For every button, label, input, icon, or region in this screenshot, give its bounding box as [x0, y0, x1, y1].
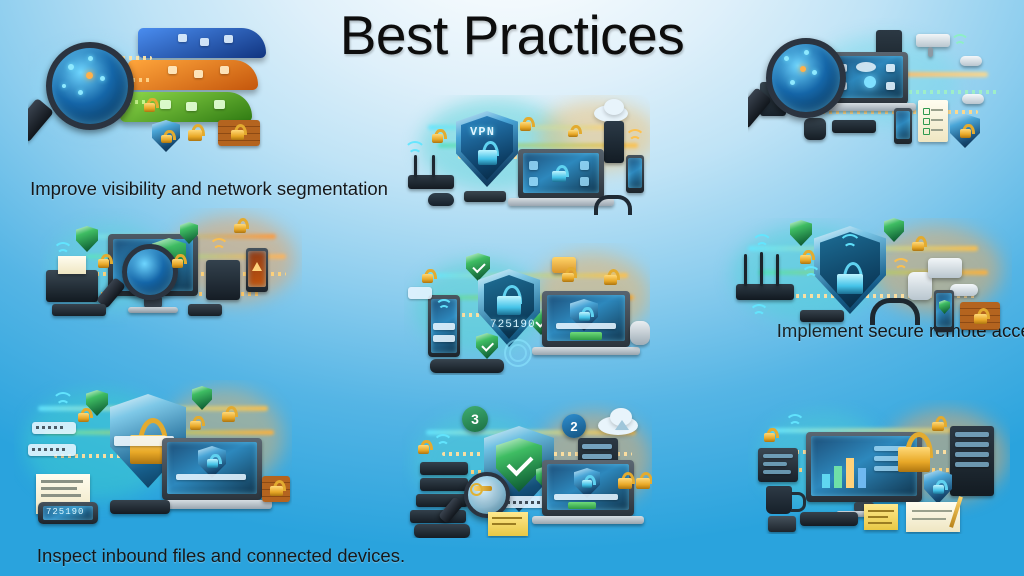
lock-icon [912, 236, 924, 251]
lock-icon [188, 124, 202, 141]
wifi-icon [208, 244, 230, 258]
wifi-icon [50, 398, 76, 414]
practice-card-identify-assets[interactable]: Identify and manage connected assets [748, 18, 1016, 154]
lock-icon [172, 254, 183, 268]
lock-icon [231, 124, 244, 140]
magnifier-icon [122, 244, 178, 300]
lock-icon [604, 269, 617, 285]
lock-icon [497, 285, 521, 315]
lock-icon [562, 267, 574, 282]
illustration-identify-assets [748, 18, 1016, 154]
lock-icon [98, 254, 109, 268]
wifi-icon [748, 310, 770, 324]
illustration-backup-strategy: 3 2 [402, 400, 652, 538]
lock-icon [960, 124, 971, 138]
illustration-improve-visibility [28, 20, 270, 155]
wifi-icon [402, 147, 428, 163]
wifi-icon [624, 135, 646, 149]
practice-card-secure-remote-access[interactable]: VPN [398, 95, 650, 217]
practice-caption: Inspect inbound files and connected devi… [37, 545, 405, 567]
practice-card-train-employees[interactable]: Train employees regularly [748, 400, 1010, 534]
lock-icon [764, 428, 775, 442]
lock-icon [234, 218, 246, 233]
wifi-icon [950, 40, 970, 53]
practice-caption: Improve visibility and network segmentat… [30, 178, 388, 200]
illustration-secure-remote-access: VPN [398, 95, 650, 217]
security-camera-icon [916, 34, 950, 47]
practice-card-enable-mfa[interactable]: 725190 [404, 243, 650, 375]
lock-icon [78, 408, 89, 422]
lock-icon [579, 307, 590, 321]
otp-code: 725190 [46, 507, 84, 517]
lock-icon [837, 262, 863, 294]
lock-icon [422, 269, 433, 283]
wifi-icon [750, 240, 774, 255]
lock-icon [478, 141, 497, 165]
coffee-mug-icon [766, 486, 792, 514]
slide-canvas: Best Practices [0, 0, 1024, 576]
illustration-secure-wireless [712, 218, 1012, 340]
wifi-icon [836, 240, 864, 257]
lock-icon [222, 406, 235, 422]
lock-icon [207, 454, 218, 468]
wifi-icon [800, 272, 822, 286]
lock-icon [270, 480, 283, 496]
practice-card-password-hygiene[interactable]: 725190 Maintain strong password hygiene [14, 380, 292, 532]
illustration-password-hygiene: 725190 [14, 380, 292, 532]
wifi-icon [434, 305, 454, 317]
wifi-icon [890, 264, 912, 278]
practice-card-backup-strategy[interactable]: 3 2 [402, 400, 652, 538]
lock-icon [568, 125, 578, 137]
lock-icon [520, 117, 531, 131]
practice-card-inspect-inbound[interactable]: 0110 [40, 208, 302, 328]
lock-icon [582, 475, 592, 488]
lock-icon [974, 308, 987, 324]
illustration-enable-mfa: 725190 [404, 243, 650, 375]
badge-two: 2 [562, 414, 586, 438]
practice-card-improve-visibility[interactable]: Improve visibility and network segmentat… [28, 20, 270, 155]
lock-icon [190, 416, 201, 430]
lock-icon [932, 416, 944, 431]
lock-icon [618, 472, 632, 489]
wifi-icon [432, 440, 454, 454]
otp-code: 725190 [490, 319, 536, 331]
wifi-icon [52, 248, 74, 262]
illustration-train-employees [748, 400, 1010, 534]
lock-icon [552, 165, 566, 182]
vpn-label: VPN [470, 125, 495, 139]
badge-three: 3 [462, 406, 488, 432]
lock-icon [800, 250, 811, 264]
lock-icon [161, 130, 172, 143]
lock-icon [636, 472, 650, 489]
lock-icon [933, 480, 944, 494]
practice-card-secure-wireless[interactable]: Secure wireless networks [712, 218, 1012, 340]
wifi-icon [784, 420, 806, 434]
illustration-inspect-inbound: 0110 [40, 208, 302, 328]
lock-icon [418, 440, 429, 454]
security-camera-icon [928, 258, 962, 278]
lock-icon [144, 98, 155, 112]
lock-icon [432, 129, 443, 143]
lock-icon [898, 432, 930, 472]
